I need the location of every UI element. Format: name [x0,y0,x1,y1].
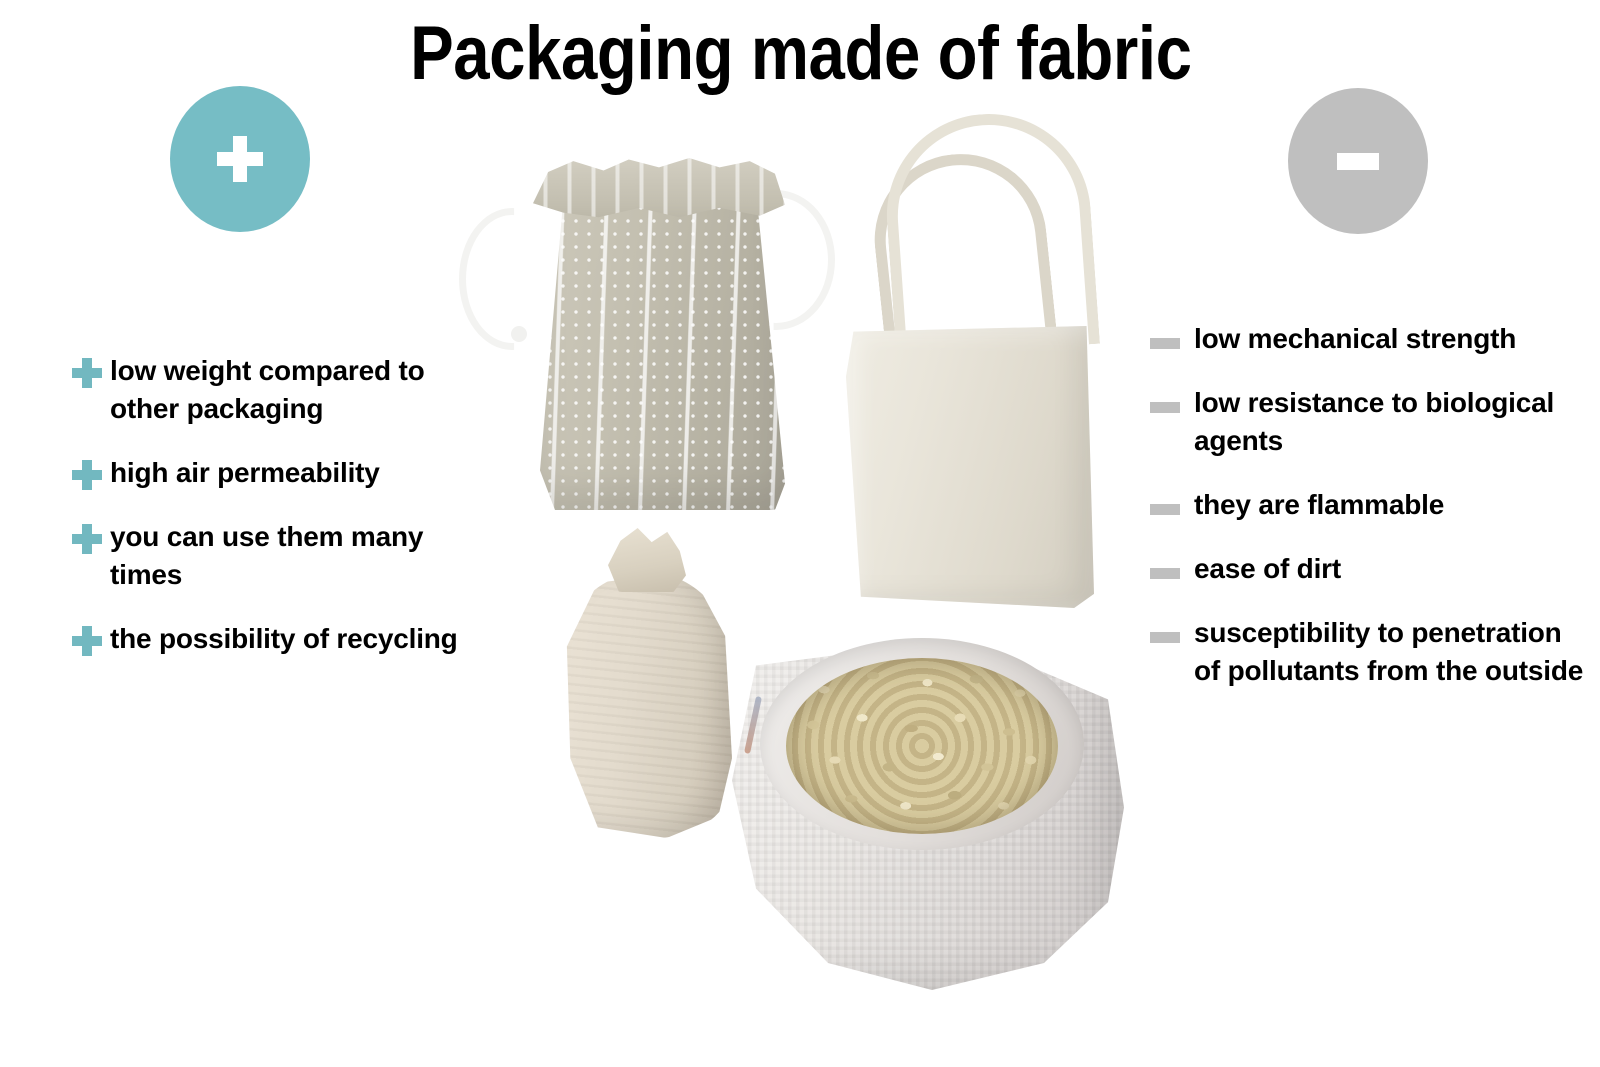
tote-handle-front [880,107,1100,358]
slide-canvas: Packaging made of fabric low weight comp… [0,0,1600,1067]
list-item-label: high air permeability [110,454,380,492]
minus-icon [1337,153,1379,170]
plus-bullet-icon [72,358,102,388]
list-item-label: low weight compared to other packaging [110,352,472,428]
plus-icon [217,136,263,182]
plus-bullet-icon [72,626,102,656]
drawstring-cord-knob [511,326,527,342]
list-item: you can use them many times [72,518,472,594]
woven-sack-with-beans-photo [724,618,1124,990]
list-item: high air permeability [72,454,472,492]
pros-list: low weight compared to other packaging h… [72,352,472,658]
tote-body [846,326,1094,608]
list-item: susceptibility to penetration of polluta… [1150,614,1590,690]
sack-tie-knot [608,528,686,592]
pouch-body [535,180,785,510]
positive-badge [170,86,310,232]
tied-linen-sack-photo [552,520,742,840]
drawstring-pouch-photo [455,120,815,520]
minus-bullet-icon [1150,632,1180,643]
list-item: ease of dirt [1150,550,1590,588]
list-item-label: the possibility of recycling [110,620,458,658]
dried-beans-fill [786,658,1058,834]
plus-bullet-icon [72,460,102,490]
minus-bullet-icon [1150,504,1180,515]
negative-badge [1288,88,1428,234]
list-item-label: they are flammable [1194,486,1444,524]
plus-bullet-icon [72,524,102,554]
list-item-label: susceptibility to penetration of polluta… [1194,614,1590,690]
list-item-label: low mechanical strength [1194,320,1516,358]
cons-list: low mechanical strength low resistance t… [1150,320,1590,690]
sack-body [560,572,732,838]
list-item-label: ease of dirt [1194,550,1341,588]
list-item: low resistance to biological agents [1150,384,1590,460]
list-item-label: you can use them many times [110,518,472,594]
list-item: low weight compared to other packaging [72,352,472,428]
minus-bullet-icon [1150,568,1180,579]
cotton-tote-bag-photo [840,110,1100,610]
minus-bullet-icon [1150,338,1180,349]
page-title: Packaging made of fabric [113,8,1489,100]
list-item-label: low resistance to biological agents [1194,384,1590,460]
minus-bullet-icon [1150,402,1180,413]
list-item: low mechanical strength [1150,320,1590,358]
list-item: they are flammable [1150,486,1590,524]
list-item: the possibility of recycling [72,620,472,658]
